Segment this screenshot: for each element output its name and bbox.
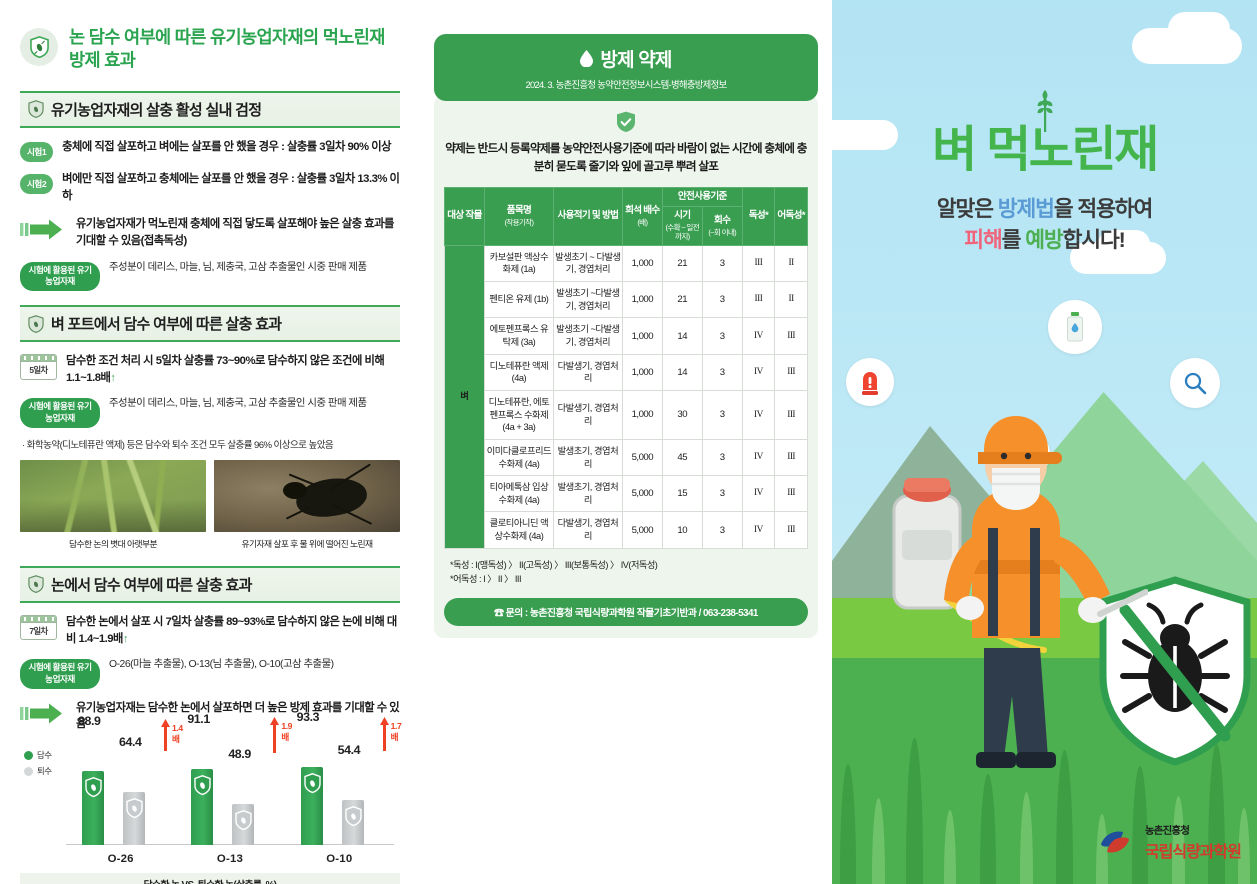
- table-row: 디노테퓨란, 에토펜프록스 수화제 (4a + 3a) 다발생기, 경엽처리 1…: [445, 390, 808, 439]
- material-text: 주성분이 데리스, 마늘, 님, 제충국, 고삼 추출물인 시중 판매 제품: [109, 396, 367, 412]
- cell-count: 3: [702, 390, 742, 439]
- alert-siren-icon: [858, 369, 882, 395]
- search-bubble[interactable]: [1170, 358, 1220, 408]
- bar-flooded: [301, 767, 323, 845]
- experiment-badge: 시험2: [20, 174, 53, 194]
- multiplier-label: 1.7배: [391, 721, 402, 743]
- bar-group: 93.3 54.4 1.7배: [285, 717, 394, 845]
- bar-value: 48.9: [228, 747, 251, 761]
- legend-swatch: [24, 767, 33, 776]
- cell-toxicity: IV: [742, 390, 775, 439]
- right-cover-panel: 벼 먹노린재 알맞은 방제법을 적용하여 피해를 예방합시다!: [832, 0, 1257, 884]
- th-dilution: 희석 배수(배): [622, 187, 662, 245]
- pesticide-header-title: 방제 약제: [600, 45, 671, 72]
- material-text: O-26(마늘 추출물), O-13(님 추출물), O-10(고삼 추출물): [109, 657, 334, 673]
- agency-name-line1: 농촌진흥청: [1145, 822, 1241, 837]
- shield-bug-icon: [235, 810, 252, 831]
- left-panel: 논 담수 여부에 따른 유기농업자재의 먹노린재 방제 효과 유기농업자재의 살…: [0, 0, 420, 884]
- cell-product: 디노테퓨란 액제 (4a): [484, 354, 553, 390]
- cell-usage: 다발생기, 경엽처리: [553, 354, 622, 390]
- up-arrow-icon: [270, 717, 279, 753]
- footnote-toxicity: *독성 : I(맹독성) 〉 II(고독성) 〉 III(보통독성) 〉 IV(…: [450, 558, 808, 572]
- calendar-icon: 7일차: [20, 615, 57, 641]
- finding-text: 담수한 조건 처리 시 5일차 살충률 73~90%로 담수하지 않은 조건에 …: [66, 353, 400, 387]
- cell-count: 3: [702, 476, 742, 512]
- brochure-page: 논 담수 여부에 따른 유기농업자재의 먹노린재 방제 효과 유기농업자재의 살…: [0, 0, 1257, 884]
- insecticidal-rate-bar-chart: 담수 퇴수 88.9 64.4: [20, 743, 400, 871]
- cell-timing: 21: [662, 282, 702, 318]
- material-row-2: 시험에 활용된 유기농업자재 주성분이 데리스, 마늘, 님, 제충국, 고삼 …: [20, 396, 400, 428]
- material-label: 시험에 활용된 유기농업자재: [20, 262, 100, 292]
- agency-name-line2: 국립식량과학원: [1145, 838, 1241, 862]
- photo-item: 담수한 논의 볏대 아랫부분: [20, 460, 206, 550]
- cell-toxicity: IV: [742, 439, 775, 475]
- bar-value: 88.9: [78, 714, 101, 728]
- cell-dilution: 1,000: [622, 354, 662, 390]
- shield-bug-icon: [194, 775, 211, 796]
- table-header-row-1: 대상 작물 품목명(작용기작) 사용적기 및 방법 희석 배수(배) 안전사용기…: [445, 187, 808, 206]
- material-row-3: 시험에 활용된 유기농업자재 O-26(마늘 추출물), O-13(님 추출물)…: [20, 657, 400, 689]
- water-drop-icon: [580, 50, 593, 67]
- th-timing: 시기(수확 ~ 일전 까지): [662, 207, 702, 245]
- bar-value: 54.4: [338, 743, 361, 757]
- cell-dilution: 1,000: [622, 390, 662, 439]
- material-label: 시험에 활용된 유기농업자재: [20, 398, 100, 428]
- shield-bug-icon: [126, 798, 143, 819]
- cell-dilution: 1,000: [622, 245, 662, 281]
- conclusion-text: 유기농업자재가 먹노린재 충체에 직접 닿도록 살포해야 높은 살충 효과를 기…: [76, 216, 400, 250]
- page-title: 논 담수 여부에 따른 유기농업자재의 먹노린재 방제 효과: [69, 26, 400, 73]
- shield-bug-icon: [345, 806, 362, 827]
- cell-usage: 발생초기, 경엽처리: [553, 476, 622, 512]
- section-heading: 벼 포트에서 담수 여부에 따른 살충 효과: [51, 313, 281, 334]
- calendar-icon: 5일차: [20, 354, 57, 380]
- photo-caption: 담수한 논의 볏대 아랫부분: [20, 537, 206, 550]
- cell-timing: 14: [662, 354, 702, 390]
- chart-legend: 담수 퇴수: [24, 749, 51, 781]
- agency-logo: 농촌진흥청 국립식량과학원: [1093, 822, 1241, 862]
- table-row: 디노테퓨란 액제 (4a) 다발생기, 경엽처리 1,000 14 3 IV I…: [445, 354, 808, 390]
- chart-plot-area: 88.9 64.4 1.4배 91.1: [66, 743, 394, 871]
- cell-timing: 15: [662, 476, 702, 512]
- cell-count: 3: [702, 512, 742, 548]
- cover-title-block: 벼 먹노린재 알맞은 방제법을 적용하여 피해를 예방합시다!: [832, 88, 1257, 255]
- section-header-1: 유기농업자재의 살충 활성 실내 검정: [20, 91, 400, 128]
- cell-dilution: 5,000: [622, 512, 662, 548]
- left-title-row: 논 담수 여부에 따른 유기농업자재의 먹노린재 방제 효과: [20, 26, 400, 73]
- subtitle-highlight-red: 피해: [964, 228, 1001, 252]
- green-check-shield-icon: [616, 111, 636, 133]
- cell-usage: 발생초기 ~다발생기, 경엽처리: [553, 282, 622, 318]
- pesticide-body-card: 약제는 반드시 등록약제를 농약안전사용기준에 따라 바람이 없는 시간에 충체…: [434, 95, 818, 638]
- legend-label: 담수: [37, 749, 51, 761]
- thick-right-arrow-icon: [20, 703, 67, 724]
- cell-count: 3: [702, 282, 742, 318]
- cell-usage: 다발생기, 경엽처리: [553, 390, 622, 439]
- cover-subtitle-line1: 알맞은 방제법을 적용하여: [832, 194, 1257, 225]
- th-safety-group: 안전사용기준: [662, 187, 742, 206]
- bar-flooded: [82, 771, 104, 845]
- cell-product: 에토펜프록스 유탁제 (3a): [484, 318, 553, 354]
- subtitle-text: 를: [1002, 228, 1026, 252]
- th-count-sub: (~회 이내): [704, 228, 741, 237]
- shield-bug-icon: [304, 773, 321, 794]
- table-row: 벼 카보설판 액상수화제 (1a) 발생초기 ~ 다발생기, 경엽처리 1,00…: [445, 245, 808, 281]
- chart-caption: 담수한 논 VS. 퇴수한 논(살충률, %): [20, 873, 400, 884]
- cover-title: 벼 먹노린재: [832, 126, 1257, 175]
- th-dilution-main: 희석 배수: [625, 205, 659, 216]
- cell-usage: 발생초기, 경엽처리: [553, 439, 622, 475]
- photo-stinkbug-on-water: [214, 460, 400, 532]
- cover-subtitle-line2: 피해를 예방합시다!: [832, 225, 1257, 256]
- bar-value: 93.3: [297, 710, 320, 724]
- material-text: 주성분이 데리스, 마늘, 님, 제충국, 고삼 추출물인 시중 판매 제품: [109, 260, 367, 276]
- material-row-1: 시험에 활용된 유기농업자재 주성분이 데리스, 마늘, 님, 제충국, 고삼 …: [20, 260, 400, 292]
- cell-product: 디노테퓨란, 에토펜프록스 수화제 (4a + 3a): [484, 390, 553, 439]
- experiment-text: 벼에만 직접 살포하고 충체에는 살포를 안 했을 경우 : 살충률 3일차 1…: [62, 171, 400, 205]
- pesticide-header-title-row: 방제 약제: [442, 45, 810, 72]
- search-icon: [1183, 371, 1207, 395]
- th-timing-main: 시기: [674, 210, 690, 221]
- th-dilution-sub: (배): [624, 218, 661, 227]
- th-timing-sub: (수확 ~ 일전 까지): [664, 223, 701, 242]
- cell-timing: 10: [662, 512, 702, 548]
- up-arrow-icon: ↑: [110, 372, 115, 384]
- pesticide-table: 대상 작물 품목명(작용기작) 사용적기 및 방법 희석 배수(배) 안전사용기…: [444, 187, 808, 549]
- pesticide-header-card: 방제 약제 2024. 3. 농촌진흥청 농약안전정보시스템-병해충방제정보: [434, 34, 818, 101]
- subtitle-highlight-blue: 방제법: [998, 197, 1054, 221]
- table-row: 이미다클로프리드 수화제 (4a) 발생초기, 경엽처리 5,000 45 3 …: [445, 439, 808, 475]
- cell-product: 클로티아니딘 액상수화제 (4a): [484, 512, 553, 548]
- cell-fish-toxicity: III: [775, 354, 808, 390]
- x-axis-tick-label: O-13: [175, 853, 284, 865]
- pesticide-bottle-bubble[interactable]: [1048, 300, 1102, 354]
- legend-label: 퇴수: [37, 765, 51, 777]
- cell-timing: 14: [662, 318, 702, 354]
- thick-right-arrow-icon: [20, 219, 67, 240]
- finding-text-body: 담수한 논에서 살포 시 7일차 살충률 89~93%로 담수하지 않은 논에 …: [66, 616, 397, 645]
- th-product-sub: (작용기작): [486, 218, 552, 227]
- cell-product: 이미다클로프리드 수화제 (4a): [484, 439, 553, 475]
- cell-toxicity: IV: [742, 318, 775, 354]
- th-product-main: 품목명: [507, 205, 531, 216]
- finding-row-2: 5일차 담수한 조건 처리 시 5일차 살충률 73~90%로 담수하지 않은 …: [20, 353, 400, 387]
- up-arrow-icon: ↑: [123, 633, 128, 645]
- photo-flooded-paddy-rice-stem: [20, 460, 206, 532]
- bar-value: 64.4: [119, 735, 142, 749]
- cell-fish-toxicity: II: [775, 245, 808, 281]
- contact-bar[interactable]: ☎ 문의 : 농촌진흥청 국립식량과학원 작물기초기반과 / 063-238-5…: [444, 598, 808, 626]
- cell-timing: 21: [662, 245, 702, 281]
- cell-fish-toxicity: III: [775, 439, 808, 475]
- cell-timing: 30: [662, 390, 702, 439]
- shield-bug-icon: [28, 100, 44, 118]
- th-usage: 사용적기 및 방법: [553, 187, 622, 245]
- pesticide-lead-text: 약제는 반드시 등록약제를 농약안전사용기준에 따라 바람이 없는 시간에 충체…: [444, 140, 808, 176]
- alert-siren-bubble[interactable]: [846, 358, 894, 406]
- cell-dilution: 1,000: [622, 318, 662, 354]
- table-row: 티아메톡삼 입상수화제 (4a) 발생초기, 경엽처리 5,000 15 3 I…: [445, 476, 808, 512]
- cell-fish-toxicity: II: [775, 282, 808, 318]
- section-heading: 논에서 담수 여부에 따른 살충 효과: [51, 574, 252, 595]
- telephone-icon: ☎: [494, 608, 503, 619]
- pesticide-header-subtitle: 2024. 3. 농촌진흥청 농약안전정보시스템-병해충방제정보: [442, 77, 810, 91]
- photo-item: 유기자재 살포 후 물 위에 떨어진 노린재: [214, 460, 400, 550]
- th-product: 품목명(작용기작): [484, 187, 553, 245]
- experiment-row-2: 시험2 벼에만 직접 살포하고 충체에는 살포를 안 했을 경우 : 살충률 3…: [20, 171, 400, 205]
- finding-row-3: 7일차 담수한 논에서 살포 시 7일차 살충률 89~93%로 담수하지 않은…: [20, 614, 400, 648]
- th-count: 회수(~회 이내): [702, 207, 742, 245]
- cell-toxicity: IV: [742, 476, 775, 512]
- cell-count: 3: [702, 245, 742, 281]
- cell-fish-toxicity: III: [775, 318, 808, 354]
- cell-product: 카보설판 액상수화제 (1a): [484, 245, 553, 281]
- shield-bug-icon: [28, 575, 44, 593]
- conclusion-row-1: 유기농업자재가 먹노린재 충체에 직접 닿도록 살포해야 높은 살충 효과를 기…: [20, 216, 400, 250]
- legend-item-flooded: 담수: [24, 749, 51, 761]
- finding-text: 담수한 논에서 살포 시 7일차 살충률 89~93%로 담수하지 않은 논에 …: [66, 614, 400, 648]
- cell-timing: 45: [662, 439, 702, 475]
- table-row: 에토펜프록스 유탁제 (3a) 발생초기 ~다발생기, 경엽처리 1,000 1…: [445, 318, 808, 354]
- cell-toxicity: IV: [742, 512, 775, 548]
- subtitle-highlight-green: 예방: [1025, 228, 1062, 252]
- th-fish-toxicity: 어독성*: [775, 187, 808, 245]
- x-axis-tick-label: O-26: [66, 853, 175, 865]
- cloud-shape: [1168, 12, 1230, 46]
- th-crop: 대상 작물: [445, 187, 485, 245]
- cell-usage: 다발생기, 경엽처리: [553, 512, 622, 548]
- middle-panel: 방제 약제 2024. 3. 농촌진흥청 농약안전정보시스템-병해충방제정보 약…: [420, 0, 832, 884]
- cover-subtitle: 알맞은 방제법을 적용하여 피해를 예방합시다!: [832, 194, 1257, 255]
- footnote-fish-toxicity: *어독성 : I 〉 II 〉 III: [450, 572, 808, 586]
- bar-group: 88.9 64.4 1.4배: [66, 717, 175, 845]
- cell-dilution: 5,000: [622, 476, 662, 512]
- agency-logo-text: 농촌진흥청 국립식량과학원: [1145, 822, 1241, 862]
- subtitle-text: 을 적용하여: [1054, 197, 1152, 221]
- x-axis-tick-label: O-10: [285, 853, 394, 865]
- shield-bug-icon: [20, 28, 58, 66]
- cell-count: 3: [702, 354, 742, 390]
- table-row: 클로티아니딘 액상수화제 (4a) 다발생기, 경엽처리 5,000 10 3 …: [445, 512, 808, 548]
- subtitle-text: 합시다!: [1063, 228, 1125, 252]
- legend-item-drained: 퇴수: [24, 765, 51, 777]
- bar-flooded: [191, 769, 213, 845]
- th-count-main: 회수: [714, 215, 730, 226]
- cell-toxicity: IV: [742, 354, 775, 390]
- cell-toxicity: III: [742, 282, 775, 318]
- korea-government-symbol: [1093, 822, 1137, 862]
- section-header-2: 벼 포트에서 담수 여부에 따른 살충 효과: [20, 305, 400, 342]
- section-header-3: 논에서 담수 여부에 따른 살충 효과: [20, 566, 400, 603]
- cell-toxicity: III: [742, 245, 775, 281]
- experiment-row-1: 시험1 충체에 직접 살포하고 벼에는 살포를 안 했을 경우 : 살충률 3일…: [20, 139, 400, 162]
- material-label: 시험에 활용된 유기농업자재: [20, 659, 100, 689]
- shield-bug-icon: [85, 777, 102, 798]
- bar-drained: [232, 804, 254, 845]
- worker-with-sprayer-illustration: [888, 378, 1148, 808]
- up-arrow-icon: [380, 717, 389, 751]
- cell-count: 3: [702, 318, 742, 354]
- experiment-badge: 시험1: [20, 142, 53, 162]
- bar-value: 91.1: [187, 712, 210, 726]
- legend-swatch: [24, 751, 33, 760]
- bar-group: 91.1 48.9 1.9배: [175, 717, 284, 845]
- calendar-label: 5일차: [21, 362, 56, 379]
- cell-product: 티아메톡삼 입상수화제 (4a): [484, 476, 553, 512]
- section-heading: 유기농업자재의 살충 활성 실내 검정: [51, 99, 261, 120]
- cell-fish-toxicity: III: [775, 476, 808, 512]
- section2-note: · 화학농약(디노테퓨란 액제) 등은 담수와 퇴수 조건 모두 살충률 96%…: [22, 437, 400, 451]
- pesticide-bottle-icon: [1064, 312, 1086, 342]
- cell-dilution: 1,000: [622, 282, 662, 318]
- subtitle-text: 알맞은: [937, 197, 998, 221]
- cell-count: 3: [702, 439, 742, 475]
- up-arrow-icon: [161, 719, 170, 751]
- bar-drained: [342, 800, 364, 845]
- cell-fish-toxicity: III: [775, 512, 808, 548]
- experiment-text: 충체에 직접 살포하고 벼에는 살포를 안 했을 경우 : 살충률 3일차 90…: [62, 139, 391, 156]
- photo-caption: 유기자재 살포 후 물 위에 떨어진 노린재: [214, 537, 400, 550]
- th-toxicity: 독성*: [742, 187, 775, 245]
- cell-usage: 발생초기 ~다발생기, 경엽처리: [553, 318, 622, 354]
- bar-drained: [123, 792, 145, 845]
- shield-bug-icon: [28, 315, 44, 333]
- cell-fish-toxicity: III: [775, 390, 808, 439]
- cell-usage: 발생초기 ~ 다발생기, 경엽처리: [553, 245, 622, 281]
- table-row: 펜티온 유제 (1b) 발생초기 ~다발생기, 경엽처리 1,000 21 3 …: [445, 282, 808, 318]
- photo-gallery: 담수한 논의 볏대 아랫부분 유기자재 살포 후 물 위에 떨어진 노린재: [20, 460, 400, 550]
- contact-text: 문의 : 농촌진흥청 국립식량과학원 작물기초기반과 / 063-238-534…: [506, 608, 758, 619]
- cell-product: 펜티온 유제 (1b): [484, 282, 553, 318]
- table-footnotes: *독성 : I(맹독성) 〉 II(고독성) 〉 III(보통독성) 〉 IV(…: [450, 558, 808, 587]
- cell-dilution: 5,000: [622, 439, 662, 475]
- cell-crop: 벼: [445, 245, 485, 548]
- calendar-label: 7일차: [21, 623, 56, 640]
